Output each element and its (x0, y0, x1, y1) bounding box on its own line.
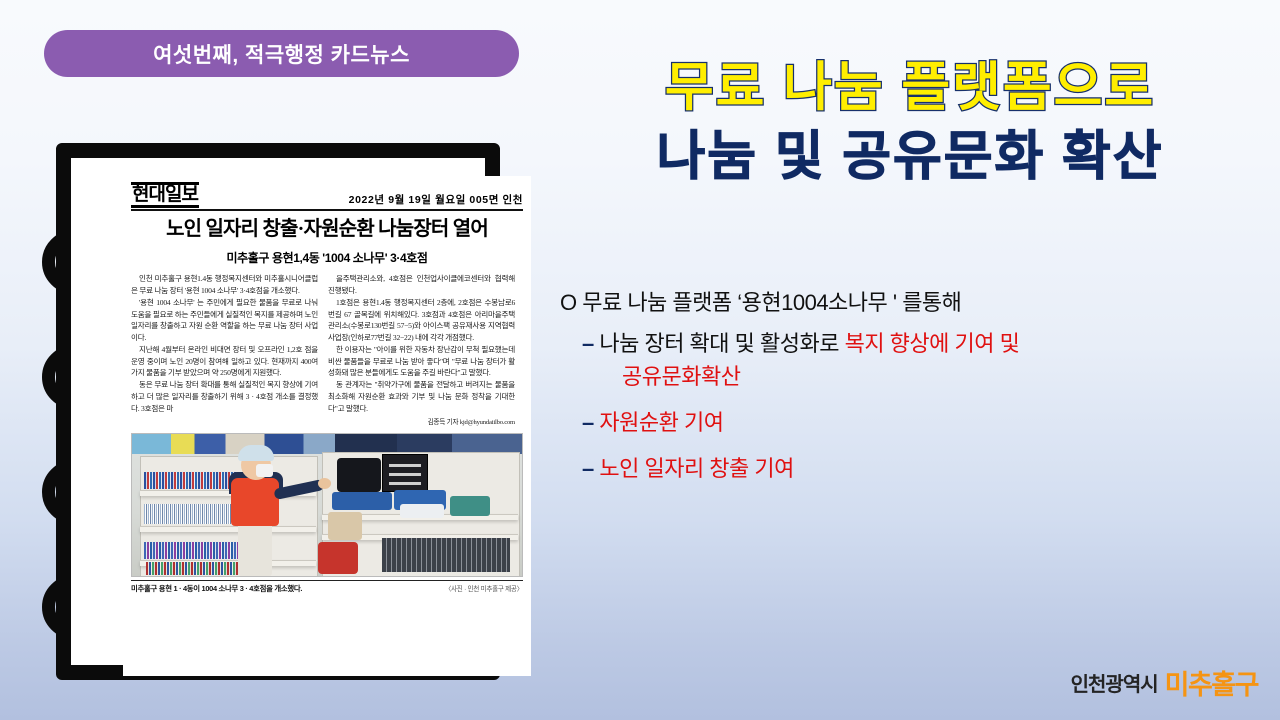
article-byline: 김종득 기자 kjd@hyundaiilbo.com (328, 418, 515, 428)
newspaper-issue-line: 2022년 9월 19일 월요일 005면 인천 (349, 192, 523, 208)
article-paragraph: 동 관계자는 "취약가구에 물품을 전달하고 버려지는 물품을 최소화해 자원순… (328, 379, 515, 414)
photo-credit: 〈사진 · 인천 미추홀구 제공〉 (445, 583, 523, 593)
newspaper-columns: 인천 미추홀구 용현1.4동 행정복지센터와 미추홀시니어클럽은 무료 나눔 장… (131, 273, 523, 427)
clipboard-newspaper-clipping: 현대일보 2022년 9월 19일 월요일 005면 인천 노인 일자리 창출·… (38, 143, 518, 688)
body-bullet-2: – 자원순환 기여 (582, 408, 1270, 438)
photo-worker-hand (318, 478, 331, 489)
body-lead-line: O 무료 나눔 플랫폼 ‘용현1004소나무 ' 를통해 (560, 288, 1270, 318)
slide-body: O 무료 나눔 플랫폼 ‘용현1004소나무 ' 를통해 – 나눔 장터 확대 … (560, 288, 1270, 499)
photo-clothes (400, 504, 444, 518)
newspaper-column-left: 인천 미추홀구 용현1.4동 행정복지센터와 미추홀시니어클럽은 무료 나눔 장… (131, 273, 318, 427)
logo-district-name: 미추홀구 (1165, 663, 1258, 702)
article-paragraph: 1호점은 용현1.4동 행정복지센터 2층에, 2호점은 수봉남로6번길 67 … (328, 297, 515, 344)
bullet-text-red: 자원순환 기여 (599, 410, 723, 435)
bullet-dash: – (582, 410, 594, 435)
newspaper-masthead: 현대일보 (131, 182, 199, 208)
article-paragraph: 동은 무료 나눔 장터 확대를 통해 실질적인 복지 향상에 기여하고 더 많은… (131, 379, 318, 414)
photo-caption: 미추홀구 용현 1 · 4동이 1004 소나무 3 · 4호점을 개소했다. (131, 583, 302, 594)
photo-caption-row: 미추홀구 용현 1 · 4동이 1004 소나무 3 · 4호점을 개소했다. … (131, 580, 523, 594)
body-bullet-1: – 나눔 장터 확대 및 활성화로 복지 향상에 기여 및 (582, 329, 1270, 359)
article-paragraph: '용현 1004 소나무' 는 주민에게 필요한 물품을 무료로 나눠 도움을 … (131, 297, 318, 344)
body-bullet-1-continuation: 공유문화확산 (622, 362, 1270, 392)
bullet-dash: – (582, 331, 594, 356)
logo-city-name: 인천광역시 (1071, 668, 1158, 697)
article-paragraph: 한 이용자는 "아이를 위한 자동차 장난감이 무척 필요했는데 비싼 물품들을… (328, 344, 515, 379)
newspaper-article: 현대일보 2022년 9월 19일 월요일 005면 인천 노인 일자리 창출·… (123, 176, 531, 676)
binder-ring-gap (94, 472, 120, 512)
bullet-text-red: 복지 향상에 기여 및 (845, 331, 1020, 356)
bullet-text-black: 나눔 장터 확대 및 활성화로 (599, 331, 844, 356)
binder-ring-gap (94, 357, 120, 397)
slide-title-line-2: 나눔 및 공유문화 확산 (540, 127, 1280, 186)
card-news-badge: 여섯번째, 적극행정 카드뉴스 (44, 30, 519, 77)
newspaper-headline: 노인 일자리 창출·자원순환 나눔장터 열어 (131, 218, 523, 240)
photo-clothes (337, 458, 381, 492)
photo-sign (382, 454, 428, 492)
photo-boxed-items (382, 538, 510, 572)
newspaper-photo (131, 433, 523, 577)
photo-worker-mask (256, 464, 273, 477)
photo-worker-vest (231, 478, 279, 526)
photo-top-shelf-items (132, 434, 522, 454)
card-news-badge-label: 여섯번째, 적극행정 카드뉴스 (153, 39, 410, 69)
photo-bag (318, 542, 358, 574)
article-paragraph: 인천 미추홀구 용현1.4동 행정복지센터와 미추홀시니어클럽은 무료 나눔 장… (131, 273, 318, 297)
photo-worker-cap (238, 445, 274, 461)
slide-title: 무료 나눔 플랫폼으로 나눔 및 공유문화 확산 (540, 58, 1280, 187)
article-paragraph: 을주택관리소와, 4호점은 인천업사이클에코센터와 협력해 진행됐다. (328, 273, 515, 297)
body-bullet-3: – 노인 일자리 창출 기여 (582, 454, 1270, 484)
photo-clothes (332, 492, 392, 510)
binder-ring-gap (94, 587, 120, 627)
newspaper-column-right: 을주택관리소와, 4호점은 인천업사이클에코센터와 협력해 진행됐다. 1호점은… (328, 273, 515, 427)
photo-shelf-board (140, 526, 316, 532)
clipboard-frame: 현대일보 2022년 9월 19일 월요일 005면 인천 노인 일자리 창출·… (56, 143, 500, 680)
article-paragraph: 지난해 4월부터 온라인 비대면 장터 및 오프라인 1,2호 점을 운영 중이… (131, 344, 318, 379)
newspaper-masthead-row: 현대일보 2022년 9월 19일 월요일 005면 인천 (131, 182, 523, 211)
district-logo: 인천광역시 미추홀구 (1071, 663, 1258, 702)
newspaper-subheadline: 미추홀구 용현1,4동 '1004 소나무' 3·4호점 (131, 249, 523, 266)
slide-title-line-1: 무료 나눔 플랫폼으로 (540, 58, 1280, 117)
binder-ring-gap (94, 242, 120, 282)
photo-bag (328, 512, 362, 540)
photo-clothes (450, 496, 490, 516)
bullet-dash: – (582, 456, 594, 481)
bullet-text-red: 노인 일자리 창출 기여 (599, 456, 794, 481)
